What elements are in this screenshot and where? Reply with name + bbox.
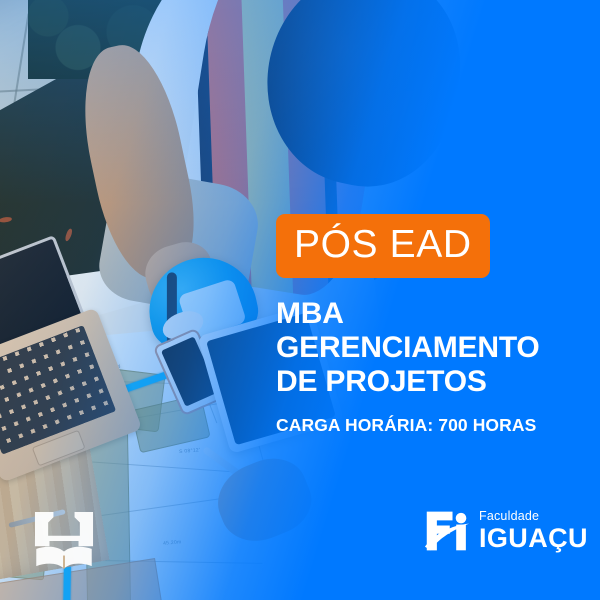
course-title-line-1: MBA (276, 297, 586, 331)
promo-card: N 12°34' L-04 S 08°12' P-17 45.20m Q-03 (0, 0, 600, 600)
faculdade-iguacu-logo: Faculdade IGUAÇU (424, 508, 588, 554)
course-title-line-3: DE PROJETOS (276, 365, 586, 399)
brand-wordmark: Faculdade IGUAÇU (479, 510, 588, 552)
course-title: MBA GERENCIAMENTO DE PROJETOS (276, 297, 586, 399)
fi-monogram-icon (424, 508, 470, 554)
course-type-badge: PÓS EAD (276, 214, 490, 278)
promo-content: PÓS EAD MBA GERENCIAMENTO DE PROJETOS CA… (276, 214, 586, 436)
h-book-watermark (30, 508, 98, 574)
course-title-line-2: GERENCIAMENTO (276, 331, 586, 365)
course-workload: CARGA HORÁRIA: 700 HORAS (276, 415, 586, 436)
brand-top-word: Faculdade (479, 510, 588, 523)
h-book-icon (30, 508, 98, 574)
brand-main-word: IGUAÇU (479, 525, 588, 552)
